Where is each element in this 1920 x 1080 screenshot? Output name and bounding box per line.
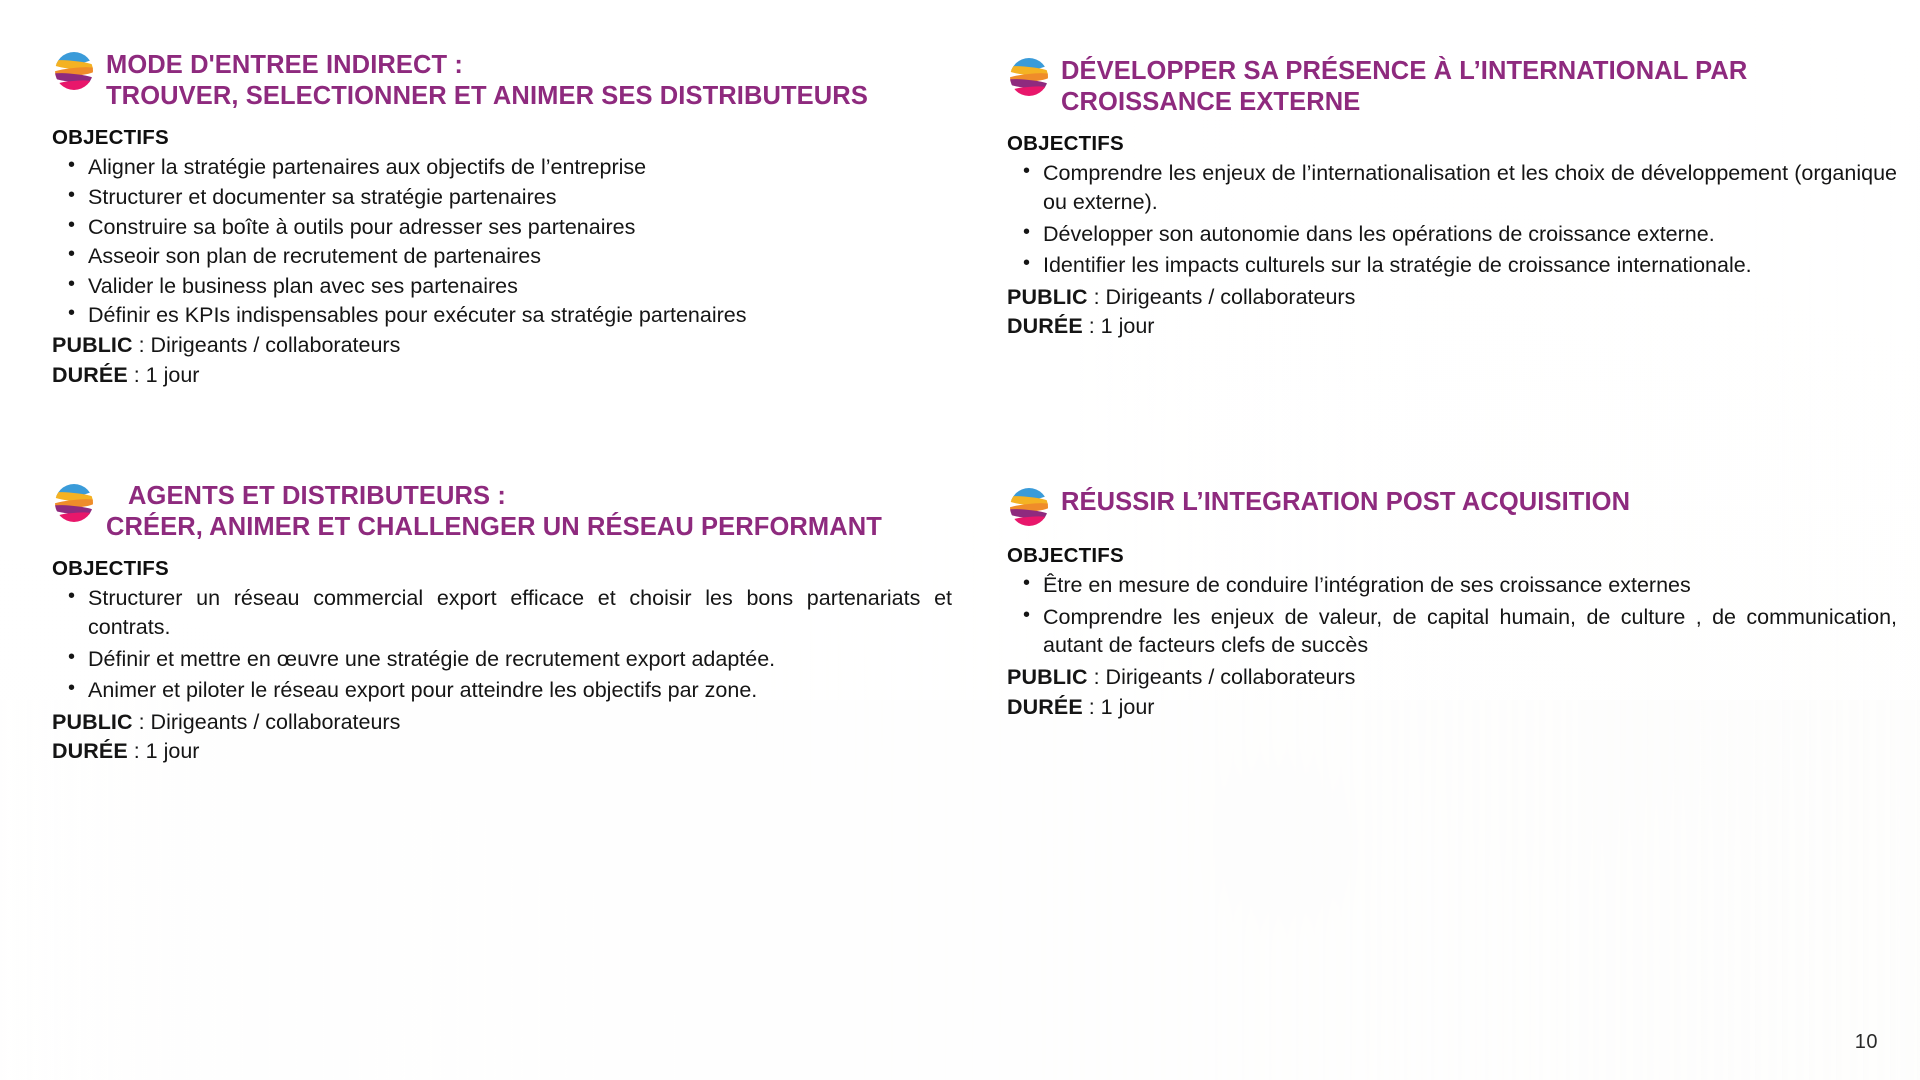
public-label: PUBLIC: [52, 710, 133, 734]
objectives-list: Comprendre les enjeux de l’international…: [1009, 159, 1897, 279]
globe-logo-icon: [1007, 54, 1049, 100]
objective-item: Identifier les impacts culturels sur la …: [1009, 251, 1897, 280]
course-title-line: MODE D'ENTREE INDIRECT :: [106, 50, 868, 81]
course-title: DÉVELOPPER SA PRÉSENCE À L’INTERNATIONAL…: [1049, 52, 1747, 118]
course-card-header: RÉUSSIR L’INTEGRATION POST ACQUISITION: [1007, 482, 1897, 530]
course-title-line: RÉUSSIR L’INTEGRATION POST ACQUISITION: [1061, 487, 1630, 518]
slide-canvas: MODE D'ENTREE INDIRECT : TROUVER, SELECT…: [0, 0, 1920, 1080]
public-value: : Dirigeants / collaborateurs: [133, 333, 401, 357]
course-title-line: CROISSANCE EXTERNE: [1061, 87, 1747, 118]
course-title-line: TROUVER, SELECTIONNER ET ANIMER SES DIST…: [106, 81, 868, 112]
objective-item: Valider le business plan avec ses parten…: [54, 272, 892, 301]
course-card-body: OBJECTIFS Comprendre les enjeux de l’int…: [1007, 130, 1897, 341]
course-card-header: AGENTS ET DISTRIBUTEURS : CRÉER, ANIMER …: [52, 478, 952, 543]
duree-label: DURÉE: [1007, 695, 1083, 719]
objective-item: Définir es KPIs indispensables pour exéc…: [54, 301, 892, 330]
course-title-line: CRÉER, ANIMER ET CHALLENGER UN RÉSEAU PE…: [106, 512, 882, 543]
public-line: PUBLIC : Dirigeants / collaborateurs: [1007, 283, 1897, 312]
course-card-mode-entree-indirect: MODE D'ENTREE INDIRECT : TROUVER, SELECT…: [52, 46, 892, 389]
course-card-developper-presence-international: DÉVELOPPER SA PRÉSENCE À L’INTERNATIONAL…: [1007, 52, 1897, 341]
public-line: PUBLIC : Dirigeants / collaborateurs: [1007, 663, 1897, 692]
duree-line: DURÉE : 1 jour: [52, 737, 952, 766]
page-number: 10: [1855, 1031, 1878, 1054]
duree-line: DURÉE : 1 jour: [52, 361, 892, 390]
public-label: PUBLIC: [1007, 285, 1088, 309]
duree-label: DURÉE: [52, 363, 128, 387]
globe-logo-icon: [52, 480, 94, 526]
public-line: PUBLIC : Dirigeants / collaborateurs: [52, 708, 952, 737]
duree-label: DURÉE: [1007, 314, 1083, 338]
duree-value: : 1 jour: [128, 739, 200, 763]
public-value: : Dirigeants / collaborateurs: [1088, 285, 1356, 309]
objectives-label: OBJECTIFS: [52, 555, 952, 582]
objective-item: Être en mesure de conduire l’intégration…: [1009, 571, 1897, 600]
objective-item: Structurer et documenter sa stratégie pa…: [54, 183, 892, 212]
objective-item: Aligner la stratégie partenaires aux obj…: [54, 153, 892, 182]
objective-item: Animer et piloter le réseau export pour …: [54, 676, 952, 705]
course-card-body: OBJECTIFS Structurer un réseau commercia…: [52, 555, 952, 766]
duree-line: DURÉE : 1 jour: [1007, 312, 1897, 341]
duree-value: : 1 jour: [128, 363, 200, 387]
public-label: PUBLIC: [1007, 665, 1088, 689]
objectives-label: OBJECTIFS: [1007, 130, 1897, 157]
objective-item: Construire sa boîte à outils pour adress…: [54, 213, 892, 242]
objectives-list: Aligner la stratégie partenaires aux obj…: [54, 153, 892, 330]
course-card-header: DÉVELOPPER SA PRÉSENCE À L’INTERNATIONAL…: [1007, 52, 1897, 118]
course-card-body: OBJECTIFS Être en mesure de conduire l’i…: [1007, 542, 1897, 721]
duree-line: DURÉE : 1 jour: [1007, 693, 1897, 722]
course-title-line: DÉVELOPPER SA PRÉSENCE À L’INTERNATIONAL…: [1061, 56, 1747, 87]
public-label: PUBLIC: [52, 333, 133, 357]
globe-logo-icon: [52, 48, 94, 94]
duree-value: : 1 jour: [1083, 314, 1155, 338]
public-value: : Dirigeants / collaborateurs: [133, 710, 401, 734]
objectives-list: Structurer un réseau commercial export e…: [54, 584, 952, 704]
public-value: : Dirigeants / collaborateurs: [1088, 665, 1356, 689]
objective-item: Comprendre les enjeux de l’international…: [1009, 159, 1897, 216]
public-line: PUBLIC : Dirigeants / collaborateurs: [52, 331, 892, 360]
duree-value: : 1 jour: [1083, 695, 1155, 719]
objectives-label: OBJECTIFS: [1007, 542, 1897, 569]
objective-item: Développer son autonomie dans les opérat…: [1009, 220, 1897, 249]
objectives-label: OBJECTIFS: [52, 124, 892, 151]
globe-logo-icon: [1007, 484, 1049, 530]
course-card-agents-et-distributeurs: AGENTS ET DISTRIBUTEURS : CRÉER, ANIMER …: [52, 478, 952, 766]
objective-item: Comprendre les enjeux de valeur, de capi…: [1009, 603, 1897, 660]
objective-item: Asseoir son plan de recrutement de parte…: [54, 242, 892, 271]
course-card-body: OBJECTIFS Aligner la stratégie partenair…: [52, 124, 892, 389]
slide-content: MODE D'ENTREE INDIRECT : TROUVER, SELECT…: [0, 0, 1920, 1080]
objective-item: Structurer un réseau commercial export e…: [54, 584, 952, 641]
course-card-reussir-integration-post-acquisition: RÉUSSIR L’INTEGRATION POST ACQUISITION O…: [1007, 482, 1897, 721]
objectives-list: Être en mesure de conduire l’intégration…: [1009, 571, 1897, 660]
duree-label: DURÉE: [52, 739, 128, 763]
course-title-line: AGENTS ET DISTRIBUTEURS :: [106, 481, 882, 512]
course-card-header: MODE D'ENTREE INDIRECT : TROUVER, SELECT…: [52, 46, 892, 112]
objective-item: Définir et mettre en œuvre une stratégie…: [54, 645, 952, 674]
course-title: RÉUSSIR L’INTEGRATION POST ACQUISITION: [1049, 482, 1630, 518]
course-title: MODE D'ENTREE INDIRECT : TROUVER, SELECT…: [94, 46, 868, 112]
course-title: AGENTS ET DISTRIBUTEURS : CRÉER, ANIMER …: [94, 478, 882, 543]
